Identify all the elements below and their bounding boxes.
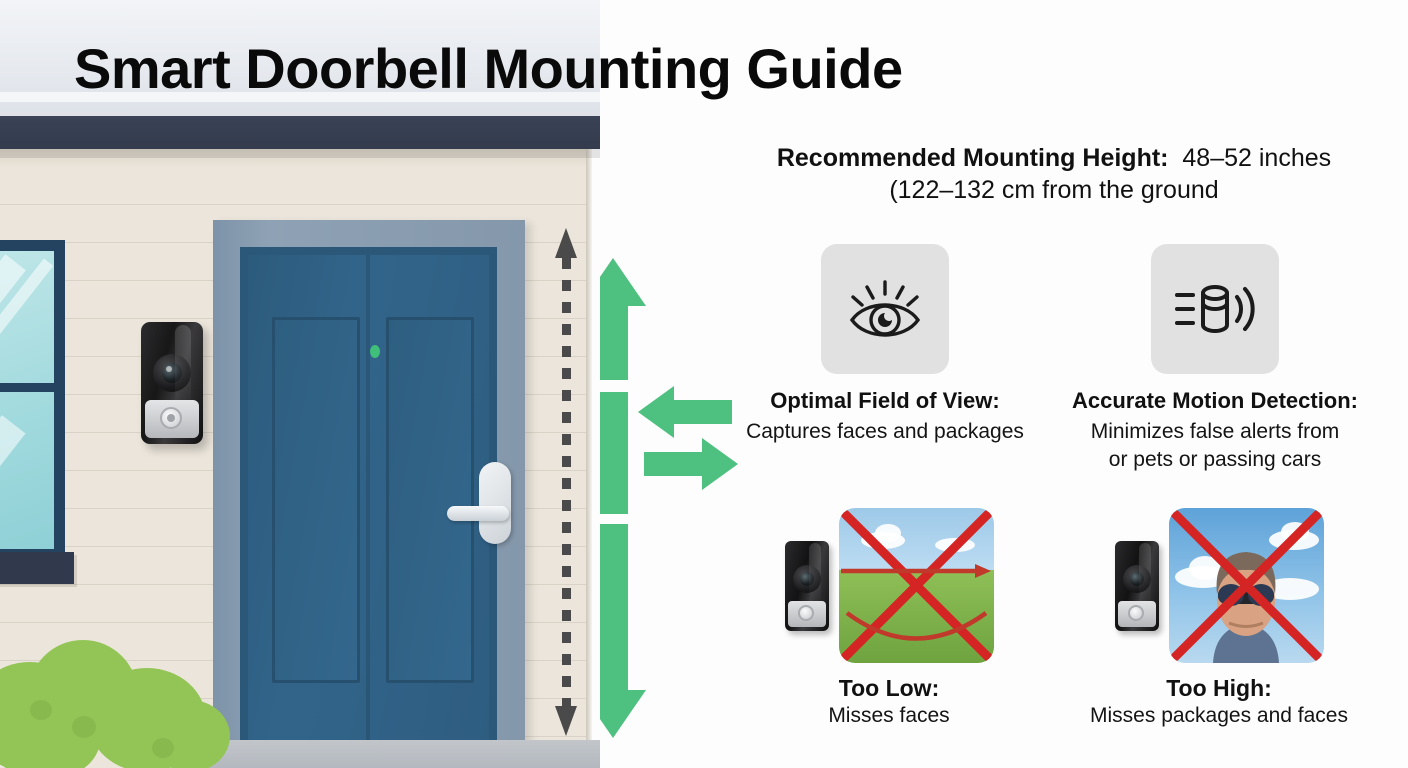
height-value: 48–52 inches: [1182, 144, 1331, 172]
door-handle-plate: [479, 462, 511, 544]
window-glass: [0, 251, 54, 549]
height-measurement-line: [558, 228, 574, 736]
roof-fascia: [0, 116, 600, 149]
info-panel: Recommended Mounting Height: 48–52 inche…: [700, 0, 1408, 768]
grass-field-photo: [839, 508, 994, 663]
bush-detail: [30, 700, 52, 720]
body-gloss: [1139, 543, 1151, 607]
body-gloss: [175, 325, 191, 411]
measurement-arrow-down: [555, 706, 577, 736]
siding-lap-line: [0, 204, 590, 205]
height-metric: (122–132 cm from the ground: [700, 174, 1408, 206]
height-label: Recommended Mounting Height:: [777, 144, 1169, 172]
example-row: [724, 508, 1054, 663]
feature-desc: Captures faces and packages: [720, 418, 1050, 446]
doorbell-button: [798, 605, 814, 621]
fascia-shadow: [0, 149, 600, 158]
door-seam: [366, 255, 370, 768]
example-title: Too Low:: [724, 675, 1054, 702]
motion-sensor-icon-card: [1151, 244, 1279, 374]
doorbell-button-dot: [167, 414, 175, 422]
example-title: Too High:: [1054, 675, 1384, 702]
door-step: [205, 740, 600, 768]
eye-icon: [846, 274, 924, 344]
bush-detail: [152, 738, 174, 758]
door-panel-left: [272, 317, 360, 683]
window-shine: [0, 254, 26, 428]
motion-sensor-icon: [1173, 273, 1257, 345]
door-indicator-light: [370, 345, 380, 358]
doorbell-icon: [1115, 541, 1159, 631]
feature-title: Accurate Motion Detection:: [1050, 388, 1380, 414]
lens-glint: [166, 366, 172, 372]
recommended-height-block: Recommended Mounting Height: 48–52 inche…: [700, 142, 1408, 206]
feature-title: Optimal Field of View:: [720, 388, 1050, 414]
infographic-canvas: Smart Doorbell Mounting Guide Recommende…: [0, 0, 1408, 768]
house-illustration: [0, 0, 600, 768]
red-x-overlay-icon: [839, 508, 994, 663]
example-too-low: Too Low: Misses faces: [724, 508, 1054, 728]
feature-motion-detection: Accurate Motion Detection: Minimizes fal…: [1050, 244, 1380, 473]
bush-detail: [72, 716, 96, 738]
doorbell-icon: [785, 541, 829, 631]
body-gloss: [809, 543, 821, 607]
doorbell-button: [1128, 605, 1144, 621]
door-handle-lever: [447, 506, 509, 521]
door-panel-right: [386, 317, 474, 683]
window-mullion: [0, 383, 54, 392]
wall-mounted-doorbell-icon: [141, 322, 203, 444]
person-sky-photo: [1169, 508, 1324, 663]
red-x-overlay-icon: [1169, 508, 1324, 663]
measurement-dashes: [562, 258, 571, 706]
feature-field-of-view: Optimal Field of View: Captures faces an…: [720, 244, 1050, 446]
example-row: [1054, 508, 1384, 663]
measurement-arrow-up: [555, 228, 577, 258]
house-window: [0, 240, 65, 560]
house-right-edge: [586, 128, 592, 768]
window-sill: [0, 552, 74, 584]
eye-icon-card: [821, 244, 949, 374]
feature-desc: Minimizes false alerts from or pets or p…: [1050, 418, 1380, 473]
example-too-high: Too High: Misses packages and faces: [1054, 508, 1384, 728]
example-desc: Misses faces: [724, 704, 1054, 728]
example-desc: Misses packages and faces: [1054, 704, 1384, 728]
